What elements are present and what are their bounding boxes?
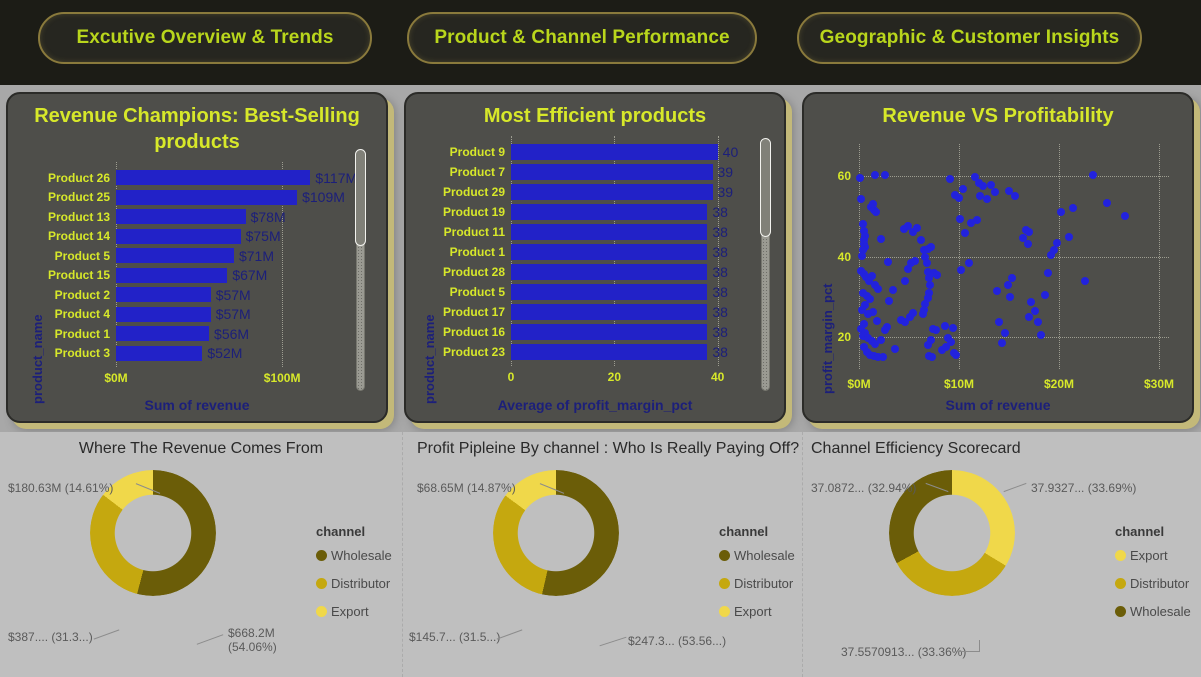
bar-value-label: $71M	[239, 248, 274, 264]
scatter-point[interactable]	[879, 353, 887, 361]
legend-label: Wholesale	[331, 548, 392, 563]
bar-value-label: $75M	[246, 228, 281, 244]
legend-label: Export	[331, 604, 369, 619]
vertical-scrollbar-thumb[interactable]	[760, 138, 771, 237]
scatter-point[interactable]	[1006, 293, 1014, 301]
bar-value-label: $109M	[302, 189, 345, 205]
bar-value-label: 39	[718, 184, 734, 200]
scatter-point[interactable]	[927, 243, 935, 251]
donut-label-wholesale: 37.0872... (32.94%)	[811, 481, 916, 495]
legend: channel WholesaleDistributorExport	[719, 524, 795, 632]
scatter-point[interactable]	[885, 297, 893, 305]
bar-value-label: $57M	[216, 287, 251, 303]
bar-category-label: Product 5	[450, 285, 505, 299]
scatter-point[interactable]	[1041, 291, 1049, 299]
panel-title: Profit Pipleine By channel : Who Is Real…	[417, 440, 799, 458]
x-tick-label: $100M	[264, 371, 301, 385]
bar-rect[interactable]	[116, 248, 234, 263]
chart-title: Most Efficient products	[406, 103, 784, 129]
legend-swatch	[316, 578, 327, 589]
bar-value-label: 39	[718, 164, 734, 180]
y-tick-label: 40	[838, 250, 851, 264]
scatter-point[interactable]	[868, 272, 876, 280]
scatter-point[interactable]	[923, 259, 931, 267]
nav-tab-label: Excutive Overview & Trends	[76, 27, 333, 49]
legend-swatch	[719, 550, 730, 561]
legend: channel WholesaleDistributorExport	[316, 524, 392, 632]
chart-title: Revenue VS Profitability	[804, 103, 1192, 129]
x-tick-label: 20	[608, 370, 621, 384]
bar-rect[interactable]	[116, 307, 211, 322]
dashboard-root: Excutive Overview & Trends Product & Cha…	[0, 0, 1201, 677]
bar-value-label: 40	[723, 144, 739, 160]
scatter-point[interactable]	[933, 271, 941, 279]
scatter-point[interactable]	[1008, 274, 1016, 282]
y-axis-label: product_name	[30, 314, 45, 404]
legend-label: Wholesale	[1130, 604, 1191, 619]
legend-item[interactable]: Distributor	[719, 576, 795, 591]
vertical-scrollbar-thumb[interactable]	[355, 149, 366, 246]
bar-category-label: Product 25	[48, 190, 110, 204]
bar-rect[interactable]	[511, 184, 713, 200]
bar-value-label: 38	[712, 264, 728, 280]
scatter-point[interactable]	[928, 353, 936, 361]
bar-row[interactable]: Product 2838	[511, 264, 707, 280]
bar-value-label: 38	[712, 284, 728, 300]
y-tick-label: 20	[838, 330, 851, 344]
grid-line	[859, 337, 1169, 338]
panel-revenue-sources: Where The Revenue Comes From $180.63M (1…	[0, 432, 402, 677]
scatter-point[interactable]	[1044, 269, 1052, 277]
scatter-point[interactable]	[1065, 233, 1073, 241]
scatter-point[interactable]	[911, 257, 919, 265]
bar-category-label: Product 9	[450, 145, 505, 159]
scatter-point[interactable]	[857, 195, 865, 203]
scatter-point[interactable]	[946, 175, 954, 183]
leader-line	[955, 651, 979, 652]
scatter-point[interactable]	[877, 235, 885, 243]
bar-category-label: Product 4	[55, 307, 110, 321]
scatter-point[interactable]	[965, 259, 973, 267]
scatter-point[interactable]	[913, 224, 921, 232]
bar-row[interactable]: Product 1$56M	[116, 326, 209, 341]
leader-line	[979, 640, 980, 652]
scatter-point[interactable]	[1001, 329, 1009, 337]
scatter-point[interactable]	[1057, 208, 1065, 216]
bar-row[interactable]: Product 138	[511, 244, 707, 260]
card-revenue-vs-profitability: Revenue VS Profitability profit_margin_p…	[802, 92, 1194, 423]
scatter-point[interactable]	[881, 171, 889, 179]
bar-value-label: $78M	[251, 209, 286, 225]
leader-line	[197, 634, 224, 645]
legend-item[interactable]: Export	[719, 604, 795, 619]
leader-line	[600, 637, 627, 647]
bar-category-label: Product 19	[443, 205, 505, 219]
card-revenue-champions: Revenue Champions: Best-Selling products…	[6, 92, 388, 423]
bar-value-label: 38	[712, 244, 728, 260]
bar-row[interactable]: Product 14$75M	[116, 229, 241, 244]
nav-tab-product-channel[interactable]: Product & Channel Performance	[407, 12, 757, 64]
scatter-point[interactable]	[901, 277, 909, 285]
x-axis-label: Sum of revenue	[8, 397, 386, 413]
scatter-point[interactable]	[873, 317, 881, 325]
x-tick-label: 0	[508, 370, 515, 384]
bar-category-label: Product 2	[55, 288, 110, 302]
x-axis-label: Sum of revenue	[804, 397, 1192, 413]
bar-rect[interactable]	[116, 287, 211, 302]
vertical-scrollbar-track[interactable]	[356, 149, 365, 391]
bar-category-label: Product 11	[444, 225, 505, 239]
legend-label: Wholesale	[734, 548, 795, 563]
x-tick-label: $20M	[1044, 377, 1074, 391]
scatter-point[interactable]	[891, 345, 899, 353]
bar-row[interactable]: Product 1138	[511, 224, 707, 240]
scatter-point[interactable]	[979, 182, 987, 190]
panel-title: Where The Revenue Comes From	[0, 440, 402, 458]
bar-rect[interactable]	[511, 244, 707, 260]
scatter-point[interactable]	[983, 195, 991, 203]
scatter-point[interactable]	[957, 266, 965, 274]
scatter-point[interactable]	[1089, 171, 1097, 179]
legend-swatch	[719, 606, 730, 617]
scatter-point[interactable]	[919, 310, 927, 318]
legend-swatch	[719, 578, 730, 589]
scatter-point[interactable]	[995, 318, 1003, 326]
scatter-point[interactable]	[991, 188, 999, 196]
donut-label-distributor: $145.7... (31.5...)	[409, 630, 500, 644]
bar-row[interactable]: Product 25$109M	[116, 190, 297, 205]
bar-row[interactable]: Product 26$117M	[116, 170, 310, 185]
scatter-point[interactable]	[955, 194, 963, 202]
bar-category-label: Product 17	[443, 305, 505, 319]
y-axis-label: product_name	[422, 314, 437, 404]
legend-title: channel	[316, 524, 392, 539]
scatter-point[interactable]	[961, 229, 969, 237]
bar-value-label: $57M	[216, 306, 251, 322]
scatter-point[interactable]	[871, 171, 879, 179]
bar-value-label: 38	[712, 344, 728, 360]
donut-label-distributor: $387.... (31.3...)	[8, 630, 93, 644]
bar-row[interactable]: Product 2939	[511, 184, 713, 200]
bar-category-label: Product 16	[443, 325, 505, 339]
bar-category-label: Product 14	[48, 229, 110, 243]
legend-title: channel	[1115, 524, 1191, 539]
scatter-point[interactable]	[941, 322, 949, 330]
bar-rect[interactable]	[116, 326, 209, 341]
bar-value-label: $56M	[214, 326, 249, 342]
scatter-point[interactable]	[1053, 239, 1061, 247]
legend: channel ExportDistributorWholesale	[1115, 524, 1191, 632]
bar-value-label: 38	[712, 324, 728, 340]
donut-label-wholesale-pct: (54.06%)	[228, 640, 277, 654]
legend-label: Distributor	[331, 576, 390, 591]
bar-row[interactable]: Product 2$57M	[116, 287, 211, 302]
legend-item[interactable]: Wholesale	[316, 548, 392, 563]
scatter-point[interactable]	[877, 336, 885, 344]
scatter-point[interactable]	[874, 285, 882, 293]
scatter-point[interactable]	[949, 324, 957, 332]
nav-tab-label: Geographic & Customer Insights	[820, 27, 1120, 49]
bar-row[interactable]: Product 1938	[511, 204, 707, 220]
legend-swatch	[1115, 578, 1126, 589]
legend-item[interactable]: Distributor	[316, 576, 392, 591]
legend-swatch	[1115, 550, 1126, 561]
scatter-point[interactable]	[881, 326, 889, 334]
scatter-point[interactable]	[917, 236, 925, 244]
bar-row[interactable]: Product 3$52M	[116, 346, 202, 361]
bar-rect[interactable]	[511, 224, 707, 240]
x-tick-label: $0M	[847, 377, 870, 391]
donut-label-wholesale: $247.3... (53.56...)	[628, 634, 726, 648]
scatter-point[interactable]	[998, 339, 1006, 347]
panel-title: Channel Efficiency Scorecard	[811, 440, 1021, 458]
scatter-point[interactable]	[993, 287, 1001, 295]
chart-title: Revenue Champions: Best-Selling products	[8, 103, 386, 155]
bar-category-label: Product 7	[450, 165, 505, 179]
bar-row[interactable]: Product 1738	[511, 304, 707, 320]
y-axis-label: profit_margin_pct	[820, 283, 835, 394]
scatter-point[interactable]	[959, 185, 967, 193]
scatter-point[interactable]	[872, 208, 880, 216]
top-navigation-bar: Excutive Overview & Trends Product & Cha…	[0, 0, 1201, 85]
nav-tab-geographic-customer[interactable]: Geographic & Customer Insights	[797, 12, 1142, 64]
bar-value-label: $117M	[315, 170, 357, 186]
bar-value-label: $67M	[232, 267, 267, 283]
scatter-point[interactable]	[932, 326, 940, 334]
scatter-point[interactable]	[889, 286, 897, 294]
bar-rect[interactable]	[116, 209, 246, 224]
panel-profit-pipeline: Profit Pipleine By channel : Who Is Real…	[402, 432, 802, 677]
bar-row[interactable]: Product 15$67M	[116, 268, 227, 283]
legend-swatch	[316, 606, 327, 617]
bar-category-label: Product 23	[443, 345, 505, 359]
leader-line	[497, 629, 523, 639]
y-tick-label: 60	[838, 169, 851, 183]
legend-label: Export	[1130, 548, 1168, 563]
bar-value-label: 38	[712, 224, 728, 240]
legend-title: channel	[719, 524, 795, 539]
bar-rect[interactable]	[116, 268, 227, 283]
scatter-point[interactable]	[858, 252, 866, 260]
donut-label-export: 37.9327... (33.69%)	[1031, 481, 1136, 495]
bar-rect[interactable]	[116, 229, 241, 244]
bar-category-label: Product 13	[48, 210, 110, 224]
donut-label-distributor: 37.5570913... (33.36%)	[841, 645, 966, 659]
x-tick-label: $30M	[1144, 377, 1174, 391]
grid-line	[859, 176, 1169, 177]
scatter-point[interactable]	[947, 338, 955, 346]
bar-row[interactable]: Product 2338	[511, 344, 707, 360]
bar-category-label: Product 1	[55, 327, 110, 341]
bar-rect[interactable]	[511, 344, 707, 360]
legend-label: Distributor	[734, 576, 793, 591]
vertical-scrollbar-track[interactable]	[761, 138, 770, 391]
scatter-point[interactable]	[1024, 240, 1032, 248]
grid-line	[859, 257, 1169, 258]
legend-item[interactable]: Export	[1115, 548, 1191, 563]
scatter-point[interactable]	[1121, 212, 1129, 220]
bar-category-label: Product 5	[55, 249, 110, 263]
donut-label-wholesale-value: $668.2M	[228, 626, 275, 640]
bar-value-label: 38	[712, 204, 728, 220]
legend-item[interactable]: Wholesale	[719, 548, 795, 563]
scatter-point[interactable]	[973, 216, 981, 224]
bar-row[interactable]: Product 4$57M	[116, 307, 211, 322]
bar-value-label: $52M	[207, 345, 242, 361]
bar-category-label: Product 3	[55, 346, 110, 360]
legend-item[interactable]: Distributor	[1115, 576, 1191, 591]
scatter-point[interactable]	[909, 309, 917, 317]
scatter-point[interactable]	[1103, 199, 1111, 207]
panel-channel-efficiency: Channel Efficiency Scorecard 37.0872... …	[802, 432, 1201, 677]
bar-row[interactable]: Product 739	[511, 164, 713, 180]
x-tick-label: $10M	[944, 377, 974, 391]
scatter-point[interactable]	[869, 308, 877, 316]
bar-rect[interactable]	[511, 144, 718, 160]
legend-label: Export	[734, 604, 772, 619]
bar-rect[interactable]	[511, 284, 707, 300]
nav-tab-label: Product & Channel Performance	[434, 27, 729, 49]
donut-label-export: $180.63M (14.61%)	[8, 481, 113, 495]
scatter-point[interactable]	[1027, 298, 1035, 306]
bar-rect[interactable]	[511, 204, 707, 220]
bar-rect[interactable]	[511, 264, 707, 280]
bar-category-label: Product 26	[48, 171, 110, 185]
scatter-point[interactable]	[1081, 277, 1089, 285]
bar-category-label: Product 28	[443, 265, 505, 279]
scatter-point[interactable]	[1031, 307, 1039, 315]
nav-tab-executive-overview[interactable]: Excutive Overview & Trends	[38, 12, 372, 64]
legend-item[interactable]: Export	[316, 604, 392, 619]
bar-rect[interactable]	[116, 170, 310, 185]
bar-value-label: 38	[712, 304, 728, 320]
x-tick-label: $0M	[104, 371, 127, 385]
scatter-point[interactable]	[1034, 318, 1042, 326]
card-most-efficient-products: Most Efficient products product_name Pro…	[404, 92, 786, 423]
bar-row[interactable]: Product 940	[511, 144, 718, 160]
scatter-point[interactable]	[1069, 204, 1077, 212]
bar-rect[interactable]	[116, 190, 297, 205]
scatter-point[interactable]	[884, 258, 892, 266]
donut-label-export: $68.65M (14.87%)	[417, 481, 516, 495]
bar-rect[interactable]	[511, 324, 707, 340]
scatter-point[interactable]	[1037, 331, 1045, 339]
x-tick-label: 40	[711, 370, 724, 384]
scatter-point[interactable]	[924, 341, 932, 349]
bar-row[interactable]: Product 13$78M	[116, 209, 246, 224]
bar-category-label: Product 1	[450, 245, 505, 259]
x-axis-label: Average of profit_margin_pct	[406, 397, 784, 413]
bar-row[interactable]: Product 5$71M	[116, 248, 234, 263]
scatter-point[interactable]	[956, 215, 964, 223]
bar-rect[interactable]	[511, 164, 713, 180]
legend-swatch	[316, 550, 327, 561]
bar-category-label: Product 15	[48, 268, 110, 282]
legend-swatch	[1115, 606, 1126, 617]
scatter-plot-area	[859, 144, 1169, 369]
bar-row[interactable]: Product 1638	[511, 324, 707, 340]
bar-rect[interactable]	[116, 346, 202, 361]
scatter-point[interactable]	[1025, 228, 1033, 236]
bar-row[interactable]: Product 538	[511, 284, 707, 300]
legend-label: Distributor	[1130, 576, 1189, 591]
legend-item[interactable]: Wholesale	[1115, 604, 1191, 619]
bar-category-label: Product 29	[443, 185, 505, 199]
scatter-point[interactable]	[856, 174, 864, 182]
leader-line	[94, 629, 120, 639]
bar-rect[interactable]	[511, 304, 707, 320]
scatter-point[interactable]	[1050, 246, 1058, 254]
